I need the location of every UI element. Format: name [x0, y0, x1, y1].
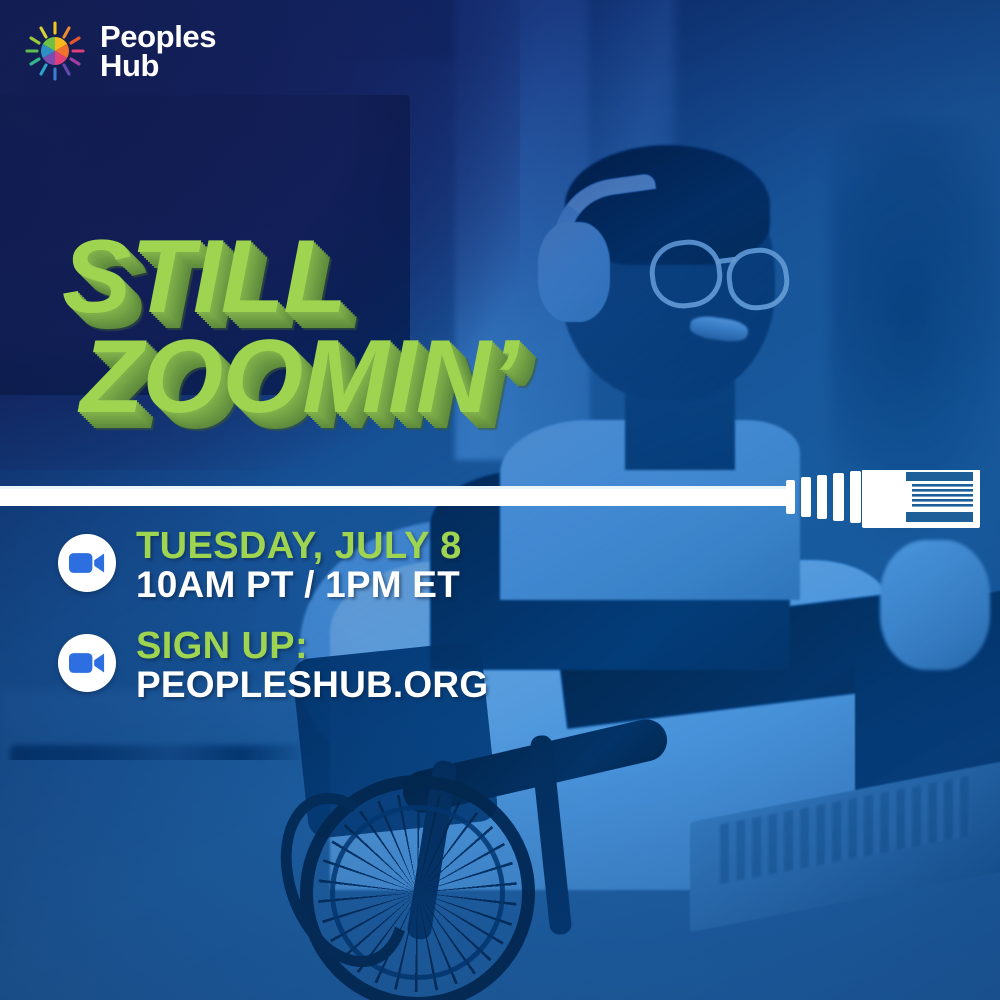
brand-name-line2: Hub — [100, 51, 216, 80]
page-title: STILL ZOOMIN’ — [62, 228, 518, 428]
rainbow-sun-icon — [24, 20, 86, 82]
detail-text-date: TUESDAY, JULY 8 10AM PT / 1PM ET — [136, 527, 462, 603]
event-details: TUESDAY, JULY 8 10AM PT / 1PM ET SIGN UP… — [58, 527, 488, 704]
promo-poster: Peoples Hub STILL ZOOMIN’ — [0, 0, 1000, 1000]
signup-label: SIGN UP: — [136, 627, 488, 666]
event-time: 10AM PT / 1PM ET — [136, 566, 462, 604]
headline-line-2: ZOOMIN’ — [80, 328, 518, 428]
detail-text-signup: SIGN UP: PEOPLESHUB.ORG — [136, 627, 488, 703]
brand-name-line1: Peoples — [100, 22, 216, 51]
brand-wordmark: Peoples Hub — [100, 22, 216, 80]
detail-row-date: TUESDAY, JULY 8 10AM PT / 1PM ET — [58, 527, 488, 603]
zoom-camera-icon — [58, 534, 116, 592]
brand-logo[interactable]: Peoples Hub — [24, 20, 216, 82]
headline-line-1: STILL — [62, 228, 518, 328]
signup-url[interactable]: PEOPLESHUB.ORG — [136, 666, 488, 704]
detail-row-signup[interactable]: SIGN UP: PEOPLESHUB.ORG — [58, 627, 488, 703]
ethernet-cable-icon — [0, 470, 1000, 530]
zoom-camera-icon — [58, 634, 116, 692]
event-date: TUESDAY, JULY 8 — [136, 527, 462, 566]
